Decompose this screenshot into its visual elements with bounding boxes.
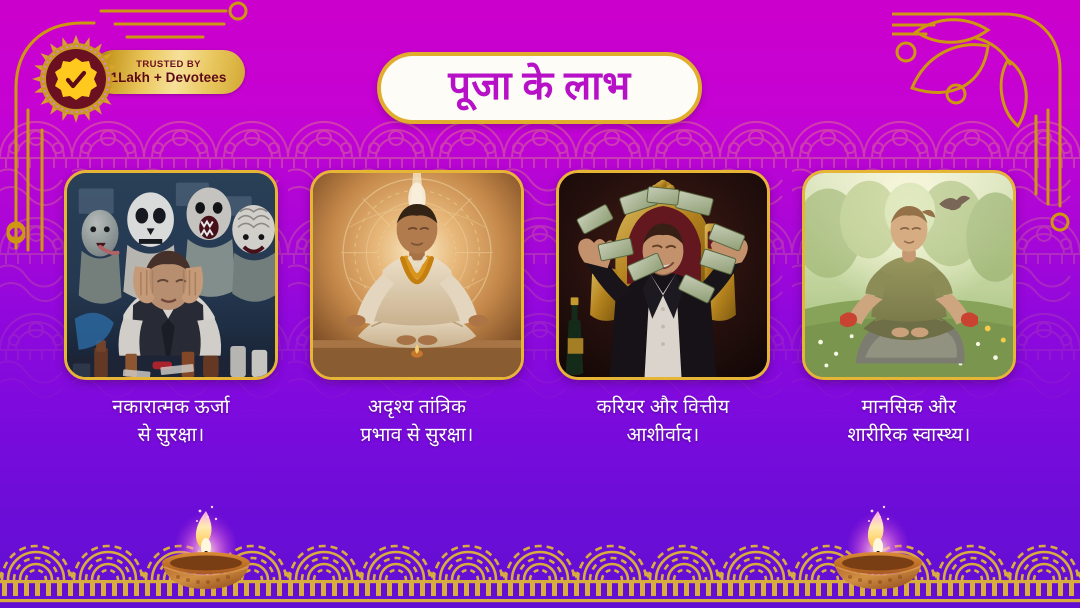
trusted-by-label: TRUSTED BY [136, 59, 201, 70]
benefit-caption-3: करियर और वित्तीय आशीर्वाद। [556, 394, 770, 449]
trusted-by-badge: TRUSTED BY 1Lakh + Devotees [30, 33, 245, 111]
verified-check-seal-icon [30, 33, 122, 125]
benefit-image-4 [802, 170, 1016, 380]
page-title-banner: पूजा के लाभ [377, 52, 702, 124]
benefit-caption-2: अदृश्य तांत्रिक प्रभाव से सुरक्षा। [310, 394, 524, 449]
benefits-row: नकारात्मक ऊर्जा से सुरक्षा। [0, 170, 1080, 455]
devotee-count-label: 1Lakh + Devotees [110, 70, 226, 85]
benefit-image-1 [64, 170, 278, 380]
diya-lamp-left [150, 501, 262, 602]
benefit-card-2[interactable]: अदृश्य तांत्रिक प्रभाव से सुरक्षा। [310, 170, 524, 449]
benefit-caption-4: मानसिक और शारीरिक स्वास्थ्य। [802, 394, 1016, 449]
benefit-card-3[interactable]: करियर और वित्तीय आशीर्वाद। [556, 170, 770, 449]
page-title: पूजा के लाभ [448, 66, 631, 110]
diya-lamp-right [822, 501, 934, 602]
benefit-card-1[interactable]: नकारात्मक ऊर्जा से सुरक्षा। [64, 170, 278, 449]
benefit-card-4[interactable]: मानसिक और शारीरिक स्वास्थ्य। [802, 170, 1016, 449]
benefit-caption-1: नकारात्मक ऊर्जा से सुरक्षा। [64, 394, 278, 449]
benefit-image-2 [310, 170, 524, 380]
benefit-image-3 [556, 170, 770, 380]
slide-canvas: TRUSTED BY 1Lakh + Devotees [0, 0, 1080, 608]
